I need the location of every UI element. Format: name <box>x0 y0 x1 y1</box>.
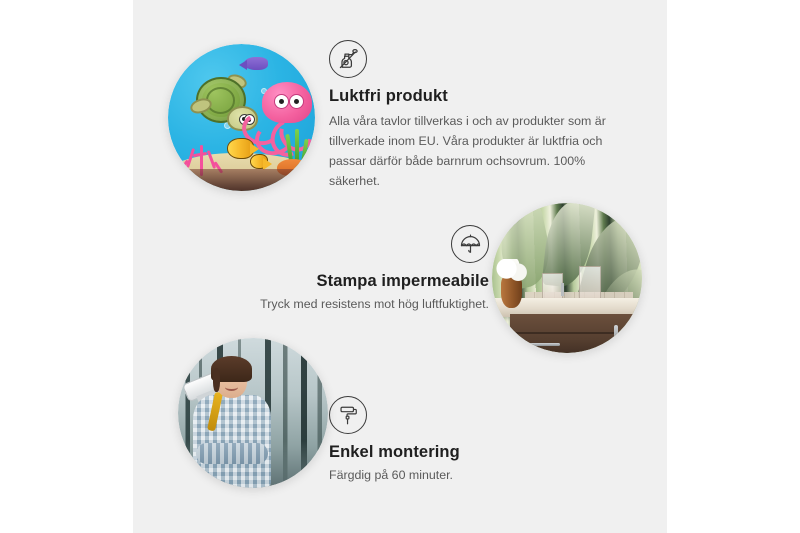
feature-title: Luktfri produkt <box>329 87 619 106</box>
person-torso <box>193 395 271 488</box>
bathroom-mirror <box>542 273 564 301</box>
screenshot-root: Luktfri produkt Alla våra tavlor tillver… <box>0 0 800 533</box>
octopus-eye <box>274 94 289 109</box>
person-hair-strand <box>213 368 221 392</box>
bathroom-mirror <box>579 266 601 301</box>
feature-waterproof-print: Stampa impermeabile Tryck med resistens … <box>213 225 489 314</box>
photo-bathroom-mural <box>492 203 642 353</box>
bathroom-faucet <box>561 283 564 297</box>
cabinet-handle <box>614 325 618 346</box>
bathroom-cabinet <box>510 314 636 353</box>
yellow-fish-icon <box>250 154 268 169</box>
feature-easy-mounting: Enkel montering Färgdig på 60 minuter. <box>329 396 609 485</box>
paint-roller-icon <box>329 396 367 434</box>
content-panel: Luktfri produkt Alla våra tavlor tillver… <box>133 0 667 533</box>
feature-description: Alla våra tavlor tillverkas i och av pro… <box>329 111 619 191</box>
umbrella-icon <box>451 225 489 263</box>
feature-description: Färgdig på 60 minuter. <box>329 465 609 485</box>
yellow-fish-icon <box>227 138 254 159</box>
person-arms <box>196 443 268 464</box>
photo-forest-mural <box>178 338 328 488</box>
photo-sea-mural-inner <box>168 44 315 191</box>
photo-sea-mural <box>168 44 315 191</box>
purple-fish-icon <box>244 57 268 70</box>
octopus-eye <box>289 94 304 109</box>
white-flowers <box>495 259 528 283</box>
photo-bathroom-mural-inner <box>492 203 642 353</box>
no-fragrance-spray-icon <box>329 40 367 78</box>
octopus-head <box>262 82 312 123</box>
photo-forest-mural-inner <box>178 338 328 488</box>
feature-title: Stampa impermeabile <box>213 272 489 291</box>
cabinet-handle <box>525 343 560 346</box>
feature-description: Tryck med resistens mot hög luftfuktighe… <box>213 294 489 314</box>
sea-foreground-strip <box>168 169 315 191</box>
feature-title: Enkel montering <box>329 443 609 462</box>
person-smile <box>225 383 239 391</box>
feature-odour-free: Luktfri produkt Alla våra tavlor tillver… <box>329 40 619 191</box>
